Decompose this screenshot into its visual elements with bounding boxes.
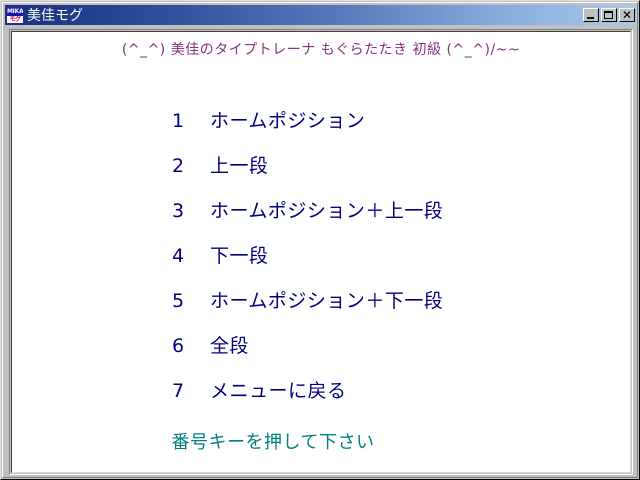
menu-item-number: 1 bbox=[172, 110, 210, 132]
lesson-menu-list: 1 ホームポジション 2 上一段 3 ホームポジション＋上一段 4 下一段 bbox=[172, 106, 572, 421]
menu-item-6[interactable]: 6 全段 bbox=[172, 331, 572, 376]
window-controls: ✕ bbox=[583, 8, 635, 22]
window-frame: MIKA モグ 美佳モグ ✕ (^_^) 美佳のタイプトレーナ もぐらたたき 初… bbox=[2, 2, 638, 478]
menu-item-1[interactable]: 1 ホームポジション bbox=[172, 106, 572, 151]
menu-item-label: ホームポジション bbox=[210, 106, 365, 133]
menu-item-number: 4 bbox=[172, 245, 210, 267]
maximize-button[interactable] bbox=[601, 8, 617, 22]
client-area: (^_^) 美佳のタイプトレーナ もぐらたたき 初級 (^_^)/~~ 1 ホー… bbox=[11, 31, 631, 473]
mika-mogu-app-icon[interactable]: MIKA モグ bbox=[6, 7, 24, 24]
menu-item-label: 上一段 bbox=[210, 151, 269, 178]
window-title: 美佳モグ bbox=[27, 5, 83, 25]
menu-item-label: ホームポジション＋下一段 bbox=[210, 286, 443, 313]
menu-item-5[interactable]: 5 ホームポジション＋下一段 bbox=[172, 286, 572, 331]
minimize-button[interactable] bbox=[583, 8, 599, 22]
app-icon-bottom-text: モグ bbox=[7, 16, 23, 23]
menu-item-number: 2 bbox=[172, 155, 210, 177]
menu-item-2[interactable]: 2 上一段 bbox=[172, 151, 572, 196]
minimize-icon bbox=[587, 17, 594, 19]
close-icon: ✕ bbox=[620, 8, 634, 22]
menu-item-number: 5 bbox=[172, 290, 210, 312]
menu-item-label: 下一段 bbox=[210, 241, 269, 268]
menu-item-label: ホームポジション＋上一段 bbox=[210, 196, 443, 223]
app-icon-top-text: MIKA bbox=[7, 8, 23, 16]
input-prompt: 番号キーを押して下さい bbox=[12, 428, 630, 454]
maximize-icon bbox=[604, 11, 613, 19]
menu-item-3[interactable]: 3 ホームポジション＋上一段 bbox=[172, 196, 572, 241]
menu-item-4[interactable]: 4 下一段 bbox=[172, 241, 572, 286]
menu-item-number: 6 bbox=[172, 335, 210, 357]
program-subtitle: (^_^) 美佳のタイプトレーナ もぐらたたき 初級 (^_^)/~~ bbox=[12, 39, 630, 59]
menu-item-number: 3 bbox=[172, 200, 210, 222]
menu-item-number: 7 bbox=[172, 380, 210, 402]
client-area-frame: (^_^) 美佳のタイプトレーナ もぐらたたき 初級 (^_^)/~~ 1 ホー… bbox=[9, 29, 633, 475]
title-bar[interactable]: MIKA モグ 美佳モグ ✕ bbox=[5, 5, 637, 25]
close-button[interactable]: ✕ bbox=[619, 8, 635, 22]
menu-item-label: 全段 bbox=[210, 331, 249, 358]
menu-item-7[interactable]: 7 メニューに戻る bbox=[172, 376, 572, 421]
application-window: MIKA モグ 美佳モグ ✕ (^_^) 美佳のタイプトレーナ もぐらたたき 初… bbox=[0, 0, 640, 480]
menu-item-label: メニューに戻る bbox=[210, 376, 347, 403]
